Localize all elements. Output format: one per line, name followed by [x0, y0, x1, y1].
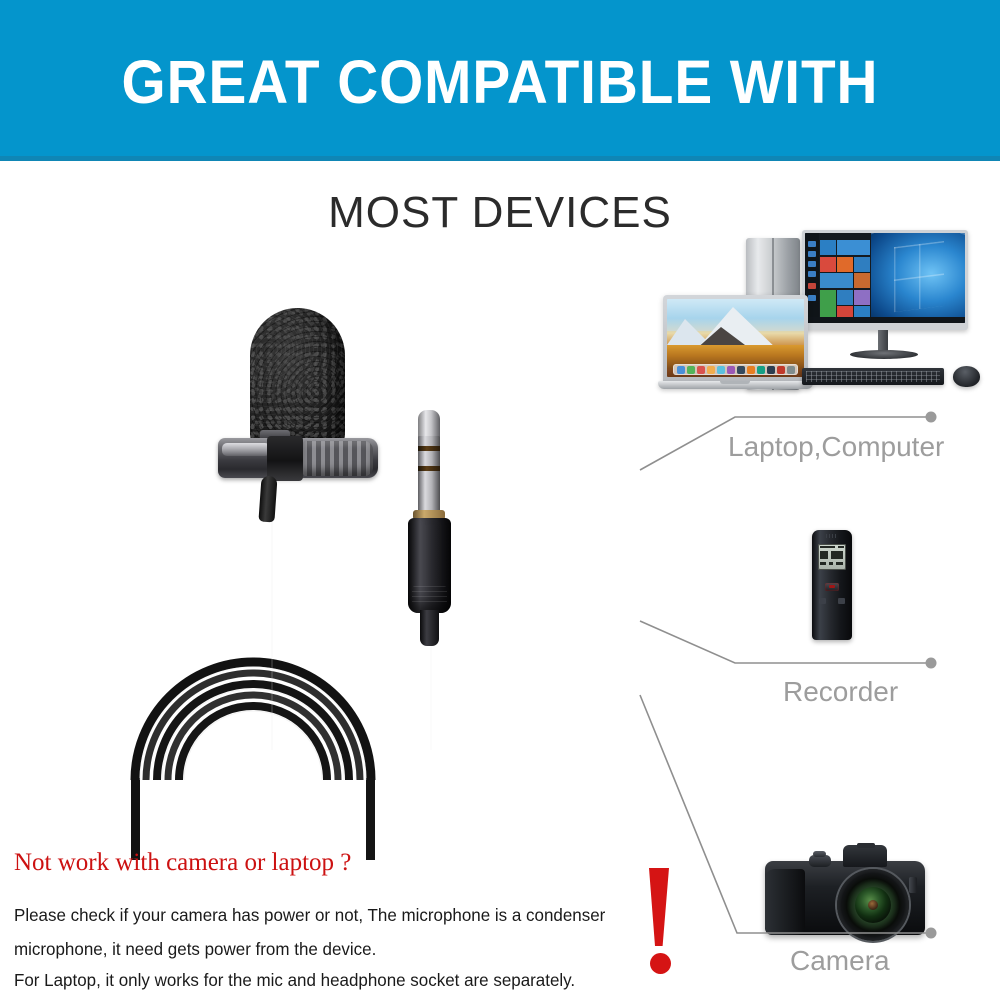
warning-heading: Not work with camera or laptop ? — [14, 849, 351, 877]
recorder-mic-grille — [826, 534, 838, 538]
product-microphone — [100, 280, 580, 860]
laptop-screen — [667, 299, 804, 377]
desktop-monitor — [802, 230, 968, 330]
plug-insulator-ring-1 — [418, 446, 440, 451]
cable-strain-relief — [258, 475, 277, 522]
recorder-record-button — [825, 583, 839, 591]
laptop-desktop-icon — [650, 228, 1000, 428]
dslr-camera-icon — [757, 843, 932, 943]
camera-shutter-button — [813, 851, 826, 857]
exclamation-bar — [649, 868, 669, 946]
clip-ribs — [303, 441, 373, 476]
keyboard-keys — [806, 371, 940, 382]
warning-line-1: Please check if your camera has power or… — [14, 905, 605, 926]
red-exclamation-icon — [641, 868, 681, 976]
microphone-foam-windscreen — [250, 308, 345, 448]
laptop-lid — [663, 295, 808, 383]
camera-lens-reflection — [868, 900, 878, 910]
recorder-body — [812, 530, 852, 640]
macos-dock — [673, 364, 798, 375]
leader-line-recorder — [640, 621, 928, 663]
start-menu-tiles — [820, 240, 870, 316]
plug-tip — [418, 410, 440, 438]
warning-line-2: microphone, it need gets power from the … — [14, 939, 376, 960]
plug-strain-neck — [420, 610, 439, 646]
banner-title: GREAT COMPATIBLE WITH — [35, 50, 965, 114]
voice-recorder-icon — [812, 530, 852, 640]
laptop-lid-notch — [720, 381, 750, 384]
device-label-camera: Camera — [790, 945, 890, 977]
camera-side-button — [909, 877, 917, 893]
mouse — [953, 366, 980, 387]
clip-highlight — [222, 443, 270, 456]
banner-underline — [0, 156, 1000, 161]
monitor-base — [850, 350, 918, 359]
monitor-screen — [805, 233, 965, 323]
laptop — [658, 295, 813, 395]
camera-grip — [765, 869, 805, 935]
recorder-key-right — [838, 598, 845, 604]
windows-taskbar — [805, 317, 965, 323]
plug-grip-grooves — [412, 586, 447, 604]
device-label-laptop: Laptop,Computer — [728, 431, 944, 463]
trs-plug — [400, 410, 460, 640]
camera-hotshoe — [857, 843, 875, 848]
camera-prism-hump — [843, 845, 887, 867]
warning-line-3: For Laptop, it only works for the mic an… — [14, 970, 575, 991]
device-label-recorder: Recorder — [783, 676, 898, 708]
windows-start-menu — [805, 233, 871, 323]
recorder-key-left — [819, 598, 826, 604]
plug-insulator-ring-2 — [418, 466, 440, 471]
leader-dot-recorder — [926, 658, 937, 669]
monitor-neck — [878, 330, 888, 352]
windows-wallpaper — [869, 233, 965, 323]
camera-lens — [837, 869, 909, 941]
infographic-page: GREAT COMPATIBLE WITH MOST DEVICES — [0, 0, 1000, 993]
foam-texture — [250, 308, 345, 448]
recorder-lcd-screen — [818, 544, 846, 570]
clip-hinge — [267, 436, 303, 481]
exclamation-dot — [650, 953, 671, 974]
keyboard — [802, 368, 944, 385]
